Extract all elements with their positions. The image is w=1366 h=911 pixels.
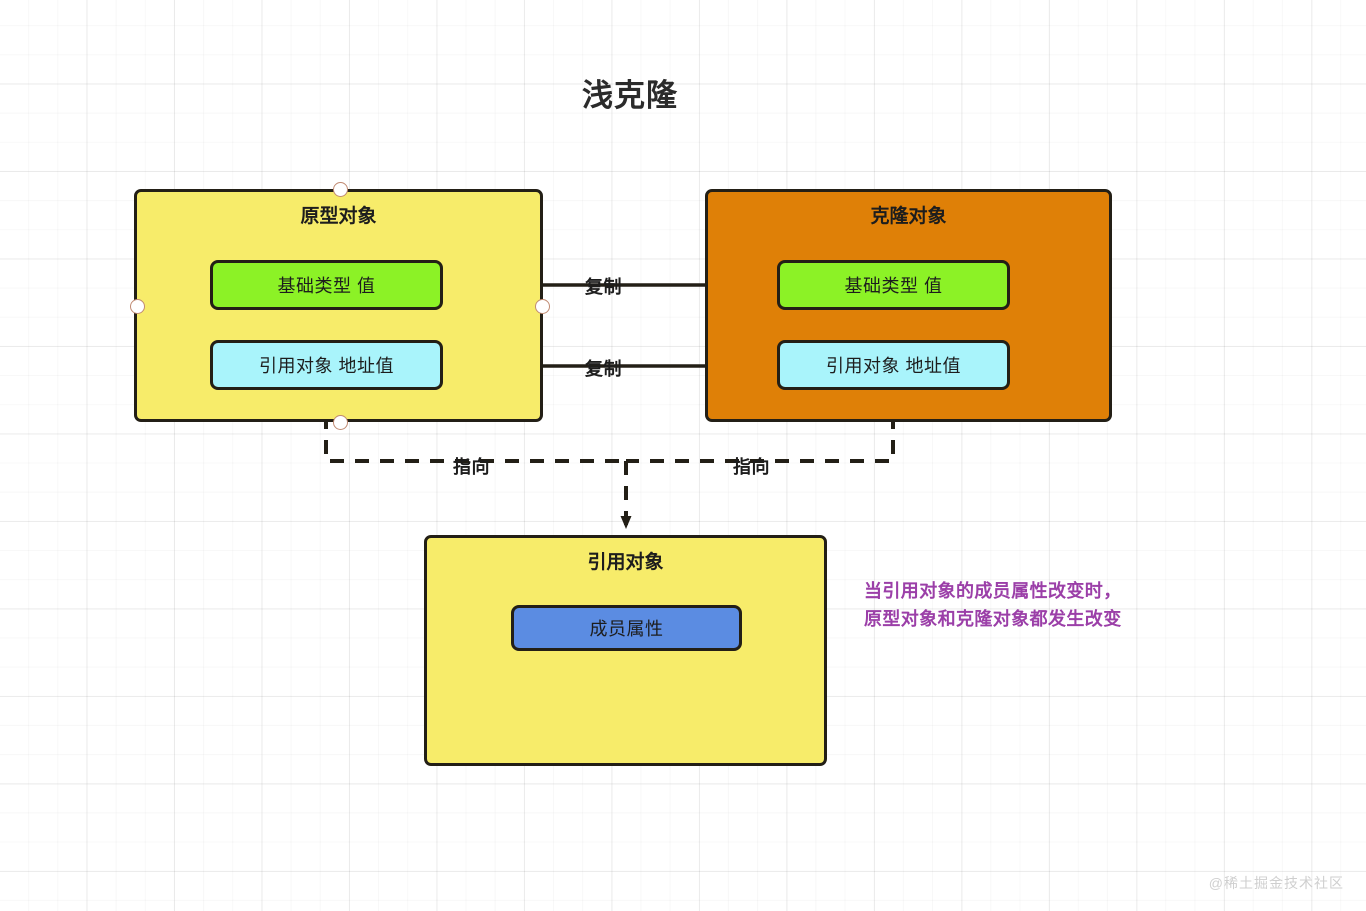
resize-handle-right[interactable] <box>535 299 550 314</box>
resize-handle-top[interactable] <box>333 182 348 197</box>
edge-label-point-prototype: 指向 <box>453 453 490 479</box>
edge-label-point-clone: 指向 <box>733 453 770 479</box>
annotation-line-1: 当引用对象的成员属性改变时， <box>864 578 1122 606</box>
edge-label-copy-reference: 复制 <box>585 355 622 381</box>
field-clone-reference[interactable]: 引用对象 地址值 <box>777 340 1010 390</box>
field-reference-member[interactable]: 成员属性 <box>511 605 742 651</box>
connector-layer <box>0 0 1366 911</box>
field-clone-primitive[interactable]: 基础类型 值 <box>777 260 1010 310</box>
resize-handle-bottom[interactable] <box>333 415 348 430</box>
node-reference-title: 引用对象 <box>427 547 824 574</box>
resize-handle-left[interactable] <box>130 299 145 314</box>
page-title: 浅克隆 <box>0 70 1260 115</box>
node-prototype-title: 原型对象 <box>137 201 540 228</box>
diagram-canvas: 浅克隆 复制 复制 指向 指向 原型对象 基础类型 值 引用对象 地址值 克 <box>0 0 1366 911</box>
watermark: @稀土掘金技术社区 <box>1209 873 1344 893</box>
annotation-line-2: 原型对象和克隆对象都发生改变 <box>864 606 1122 634</box>
node-clone-title: 克隆对象 <box>708 201 1109 228</box>
edge-label-copy-primitive: 复制 <box>585 273 622 299</box>
annotation-note: 当引用对象的成员属性改变时， 原型对象和克隆对象都发生改变 <box>864 578 1122 634</box>
field-prototype-reference[interactable]: 引用对象 地址值 <box>210 340 443 390</box>
field-prototype-primitive[interactable]: 基础类型 值 <box>210 260 443 310</box>
